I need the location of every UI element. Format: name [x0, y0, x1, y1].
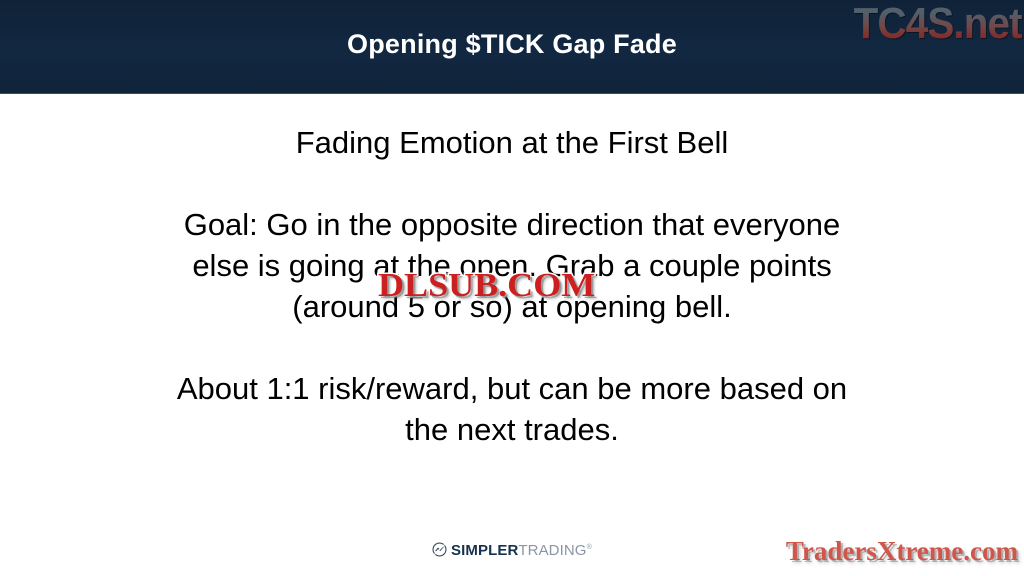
- slide-title: Opening $TICK Gap Fade: [0, 27, 1024, 61]
- presentation-slide: Opening $TICK Gap Fade TC4S.net Fading E…: [0, 0, 1024, 576]
- logo-word-simpler: SIMPLER: [451, 542, 518, 559]
- slide-header-bar: Opening $TICK Gap Fade TC4S.net: [0, 0, 1024, 94]
- simpler-trading-wordmark: SIMPLERTRADING®: [451, 540, 592, 559]
- simpler-trading-circle-chart-icon: [432, 542, 447, 557]
- registered-trademark-mark: ®: [587, 544, 592, 551]
- body-line: the next trades.: [112, 409, 912, 450]
- body-line: else is going at the open. Grab a couple…: [112, 245, 912, 286]
- body-paragraph-1: Fading Emotion at the First Bell: [112, 122, 912, 163]
- body-line: About 1:1 risk/reward, but can be more b…: [112, 368, 912, 409]
- simpler-trading-logo: SIMPLERTRADING®: [432, 538, 592, 560]
- body-line: Goal: Go in the opposite direction that …: [112, 204, 912, 245]
- body-line: Fading Emotion at the First Bell: [112, 122, 912, 163]
- body-line: (around 5 or so) at opening bell.: [112, 286, 912, 327]
- tradersxtreme-watermark: TradersXtreme.com: [786, 534, 1018, 568]
- body-paragraph-3: About 1:1 risk/reward, but can be more b…: [112, 368, 912, 450]
- slide-body-text: Fading Emotion at the First Bell Goal: G…: [112, 122, 912, 450]
- logo-word-trading: TRADING: [518, 542, 586, 559]
- body-paragraph-2: Goal: Go in the opposite direction that …: [112, 204, 912, 327]
